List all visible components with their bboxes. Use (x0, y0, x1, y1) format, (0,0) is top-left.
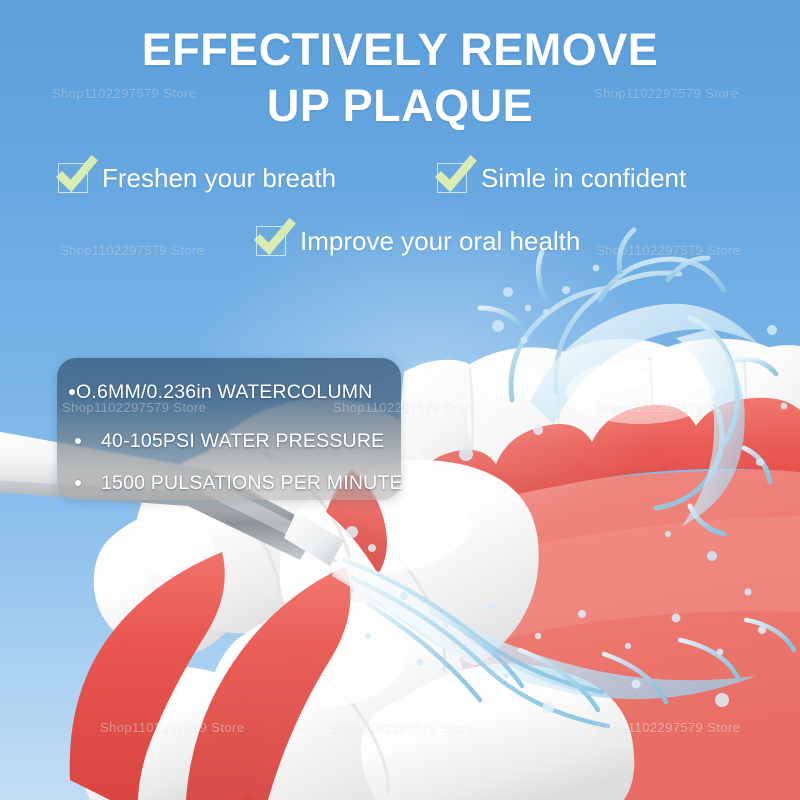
product-poster: EFFECTIVELY REMOVE UP PLAQUE Freshen you… (0, 0, 800, 800)
benefit-label: Improve your oral health (300, 226, 580, 256)
specs-list: O.6MM/0.236in WATERCOLUMN 40-105PSI WATE… (57, 358, 477, 500)
store-watermark: Shop1102297579 Store (52, 86, 196, 101)
store-watermark: Shop1102297579 Store (60, 243, 204, 258)
checkbox-checked-icon (58, 163, 88, 193)
spec-item: 40-105PSI WATER PRESSURE (75, 429, 384, 453)
benefit-item-1: Freshen your breath (58, 163, 336, 193)
benefit-item-3: Improve your oral health (256, 226, 580, 256)
store-watermark: Shop1102297579 Store (596, 400, 740, 415)
store-watermark: Shop1102297579 Store (100, 720, 244, 735)
store-watermark: Shop1102297579 Store (596, 243, 740, 258)
checkbox-checked-icon (437, 163, 467, 193)
store-watermark: Shop1102297579 Store (594, 86, 738, 101)
spec-label: 40-105PSI WATER PRESSURE (101, 429, 384, 453)
page-title: EFFECTIVELY REMOVE UP PLAQUE (0, 22, 800, 134)
store-watermark: Shop1102297579 Store (333, 400, 477, 415)
store-watermark: Shop1102297579 Store (596, 720, 740, 735)
bullet-icon (69, 389, 75, 395)
bullet-icon (75, 438, 81, 444)
store-watermark: Shop1102297579 Store (62, 400, 206, 415)
store-watermark: Shop1102297579 Store (330, 720, 474, 735)
benefit-item-2: Simle in confident (437, 163, 686, 193)
checkbox-checked-icon (256, 226, 286, 256)
benefit-label: Simle in confident (481, 163, 686, 193)
spec-label: 1500 PULSATIONS PER MINUTE (101, 471, 403, 495)
bullet-icon (75, 480, 81, 486)
benefit-label: Freshen your breath (102, 163, 336, 193)
headline-line-1: EFFECTIVELY REMOVE (142, 24, 659, 75)
spec-item: 1500 PULSATIONS PER MINUTE (75, 471, 403, 495)
